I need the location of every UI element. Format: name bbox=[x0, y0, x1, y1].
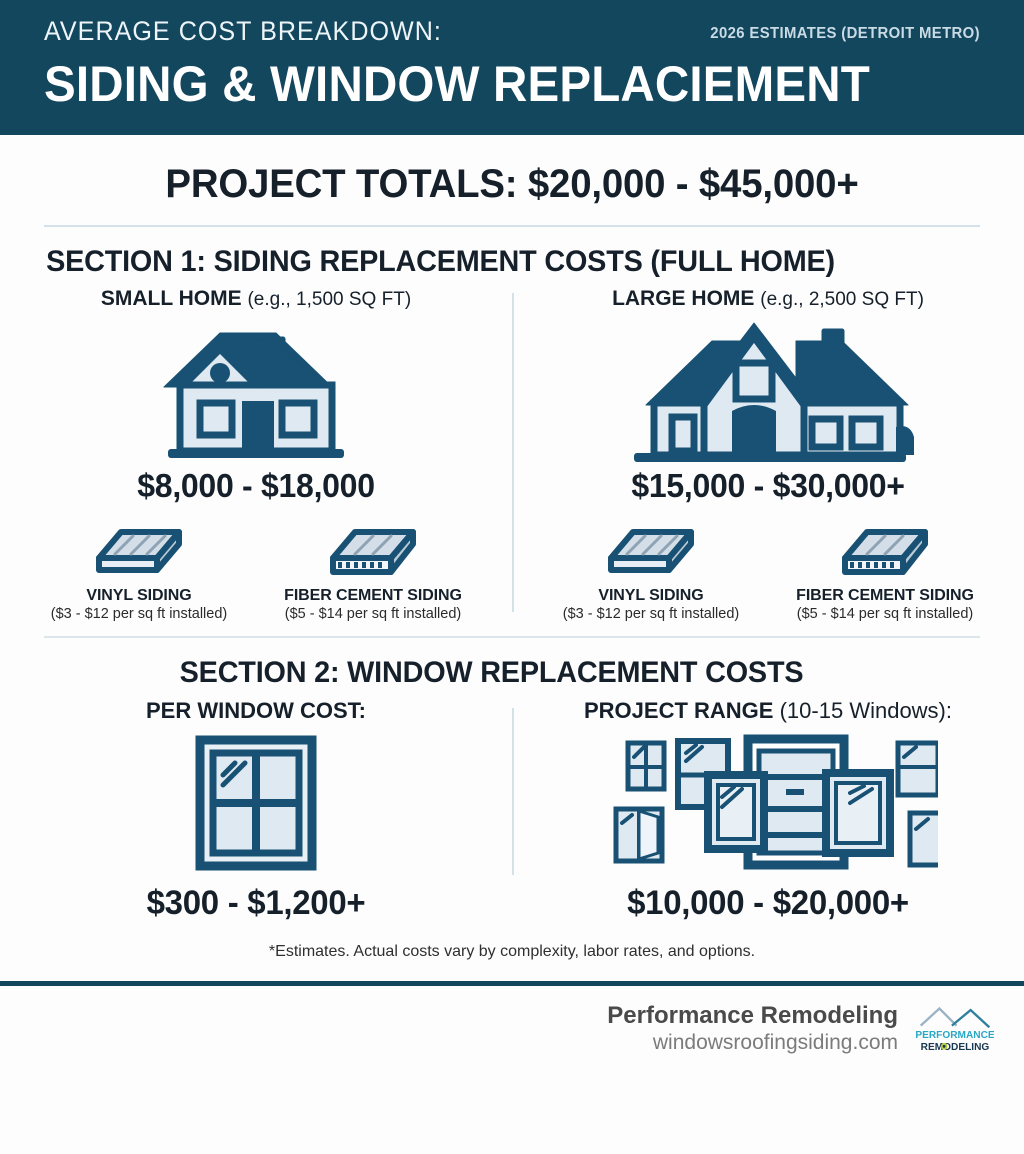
header-title: SIDING & WINDOW REPLACIEMENT bbox=[44, 58, 933, 111]
material-fiber-cement-large: FIBER CEMENT SIDING ($5 - $14 per sq ft … bbox=[785, 515, 985, 622]
header-kicker: AVERAGE COST BREAKDOWN: bbox=[44, 18, 442, 48]
column-small-home: SMALL HOME (e.g., 1,500 SQ FT) bbox=[0, 287, 512, 622]
divider-top bbox=[44, 225, 980, 227]
brand-url[interactable]: windowsroofingsiding.com bbox=[607, 1030, 898, 1055]
footer: Performance Remodeling windowsroofingsid… bbox=[0, 986, 1024, 1055]
small-house-icon-wrap bbox=[10, 315, 502, 465]
section1-title: SECTION 1: SIDING REPLACEMENT COSTS (FUL… bbox=[0, 245, 983, 279]
section2-columns: PER WINDOW COST: $300 - $1,200+ bbox=[0, 698, 1024, 923]
fiber-cement-plank-icon bbox=[325, 520, 421, 582]
logo-line2: REMODELING bbox=[921, 1042, 990, 1053]
large-home-label: LARGE HOME bbox=[612, 287, 754, 310]
per-window-label: PER WINDOW COST: bbox=[146, 698, 366, 723]
window-collage-icon bbox=[598, 731, 938, 876]
section1-vertical-divider bbox=[512, 293, 514, 612]
per-window-price: $300 - $1,200+ bbox=[17, 884, 494, 923]
performance-remodeling-logo: PERFORMANCE REMODELING bbox=[916, 1002, 994, 1054]
project-range-sub: (10-15 Windows): bbox=[780, 698, 952, 723]
vinyl-siding-label-large: VINYL SIDING bbox=[551, 587, 751, 605]
large-home-price: $15,000 - $30,000+ bbox=[529, 467, 1006, 505]
vinyl-plank-icon-wrap-large bbox=[551, 515, 751, 587]
vinyl-plank-icon bbox=[603, 520, 699, 582]
estimates-note: *Estimates. Actual costs vary by complex… bbox=[0, 943, 1024, 961]
small-home-price: $8,000 - $18,000 bbox=[17, 467, 494, 505]
window-collage-icon-wrap bbox=[522, 728, 1014, 878]
header-banner: AVERAGE COST BREAKDOWN: 2026 ESTIMATES (… bbox=[0, 0, 1024, 135]
project-range-heading: PROJECT RANGE (10-15 Windows): bbox=[522, 698, 1014, 724]
small-home-label: SMALL HOME bbox=[101, 287, 242, 310]
large-house-icon-wrap bbox=[522, 315, 1014, 465]
large-home-heading: LARGE HOME (e.g., 2,500 SQ FT) bbox=[522, 287, 1014, 311]
divider-section2 bbox=[44, 636, 980, 638]
fiber-cement-label-large: FIBER CEMENT SIDING bbox=[785, 587, 985, 605]
small-house-icon bbox=[156, 325, 356, 465]
brand-block: Performance Remodeling windowsroofingsid… bbox=[607, 1002, 898, 1055]
material-vinyl-small: VINYL SIDING ($3 - $12 per sq ft install… bbox=[39, 515, 239, 622]
large-home-materials: VINYL SIDING ($3 - $12 per sq ft install… bbox=[522, 515, 1014, 622]
fiber-cement-plank-icon-wrap bbox=[273, 515, 473, 587]
small-home-sqft: (e.g., 1,500 SQ FT) bbox=[247, 289, 411, 310]
fiber-cement-plank-icon-wrap-large bbox=[785, 515, 985, 587]
vinyl-siding-rate-large: ($3 - $12 per sq ft installed) bbox=[551, 606, 751, 622]
vinyl-plank-icon bbox=[91, 520, 187, 582]
brand-name: Performance Remodeling bbox=[607, 1002, 898, 1030]
column-large-home: LARGE HOME (e.g., 2,500 SQ FT) bbox=[512, 287, 1024, 622]
per-window-heading: PER WINDOW COST: bbox=[10, 698, 502, 724]
header-estimate-meta: 2026 ESTIMATES (DETROIT METRO) bbox=[710, 26, 980, 48]
infographic-page: AVERAGE COST BREAKDOWN: 2026 ESTIMATES (… bbox=[0, 0, 1024, 1154]
column-project-range: PROJECT RANGE (10-15 Windows): bbox=[512, 698, 1024, 923]
fiber-cement-plank-icon bbox=[837, 520, 933, 582]
project-totals: PROJECT TOTALS: $20,000 - $45,000+ bbox=[20, 162, 1003, 207]
vinyl-siding-label-small: VINYL SIDING bbox=[39, 587, 239, 605]
fiber-cement-rate-small: ($5 - $14 per sq ft installed) bbox=[273, 606, 473, 622]
large-home-sqft: (e.g., 2,500 SQ FT) bbox=[760, 289, 924, 310]
logo-line1: PERFORMANCE bbox=[916, 1031, 994, 1042]
section2-title: SECTION 2: WINDOW REPLACEMENT COSTS bbox=[0, 656, 983, 690]
single-window-icon bbox=[193, 733, 319, 873]
large-house-icon bbox=[608, 315, 928, 465]
section2-vertical-divider bbox=[512, 708, 514, 875]
small-home-heading: SMALL HOME (e.g., 1,500 SQ FT) bbox=[10, 287, 502, 311]
fiber-cement-rate-large: ($5 - $14 per sq ft installed) bbox=[785, 606, 985, 622]
fiber-cement-label-small: FIBER CEMENT SIDING bbox=[273, 587, 473, 605]
vinyl-siding-rate-small: ($3 - $12 per sq ft installed) bbox=[39, 606, 239, 622]
material-fiber-cement-small: FIBER CEMENT SIDING ($5 - $14 per sq ft … bbox=[273, 515, 473, 622]
material-vinyl-large: VINYL SIDING ($3 - $12 per sq ft install… bbox=[551, 515, 751, 622]
section1-columns: SMALL HOME (e.g., 1,500 SQ FT) bbox=[0, 287, 1024, 622]
project-range-price: $10,000 - $20,000+ bbox=[529, 884, 1006, 923]
single-window-icon-wrap bbox=[10, 728, 502, 878]
vinyl-plank-icon-wrap bbox=[39, 515, 239, 587]
small-home-materials: VINYL SIDING ($3 - $12 per sq ft install… bbox=[10, 515, 502, 622]
column-per-window: PER WINDOW COST: $300 - $1,200+ bbox=[0, 698, 512, 923]
project-range-label: PROJECT RANGE bbox=[584, 698, 773, 723]
